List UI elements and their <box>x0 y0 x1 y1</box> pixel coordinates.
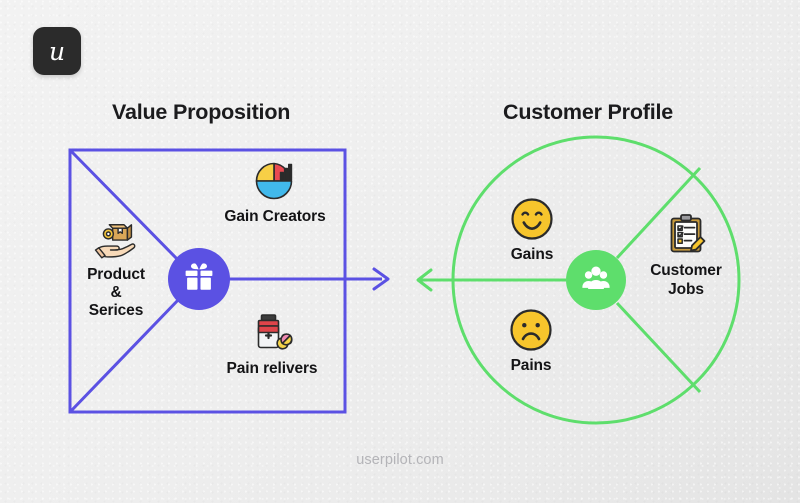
node-pains-label: Pains <box>511 357 552 375</box>
value-proposition-heading: Value Proposition <box>112 100 290 125</box>
customer-profile-arrow-icon <box>418 270 456 290</box>
value-proposition-hub <box>168 248 230 310</box>
node-pain-relievers-label: Pain relivers <box>227 360 318 378</box>
node-gain-creators-label: Gain Creators <box>224 208 325 226</box>
node-product-services-label: Product & Serices <box>87 266 145 320</box>
node-pain-relievers: Pain relivers <box>182 310 362 378</box>
node-pains: Pains <box>492 307 570 375</box>
diagram-canvas: u Value Proposition Customer Profile <box>0 0 800 503</box>
node-gain-creators: Gain Creators <box>180 158 370 226</box>
watermark: userpilot.com <box>0 452 800 468</box>
customer-profile-heading: Customer Profile <box>503 100 673 125</box>
gift-icon <box>182 260 216 299</box>
smiling-face-icon <box>509 196 555 242</box>
people-group-icon <box>579 261 613 300</box>
node-customer-jobs: Customer Jobs <box>627 212 745 299</box>
hand-holding-box-icon <box>93 222 139 262</box>
node-gains: Gains <box>493 196 571 264</box>
frowning-face-icon <box>508 307 554 353</box>
customer-profile-hub <box>566 250 626 310</box>
logo-glyph: u <box>49 39 65 64</box>
pill-bottle-icon <box>247 310 297 356</box>
node-gains-label: Gains <box>511 246 554 264</box>
pie-chart-icon <box>250 158 300 204</box>
node-customer-jobs-label: Customer Jobs <box>650 262 722 299</box>
node-product-services: Product & Serices <box>57 222 175 320</box>
userpilot-logo-icon: u <box>33 27 81 75</box>
clipboard-checklist-icon <box>666 212 706 258</box>
